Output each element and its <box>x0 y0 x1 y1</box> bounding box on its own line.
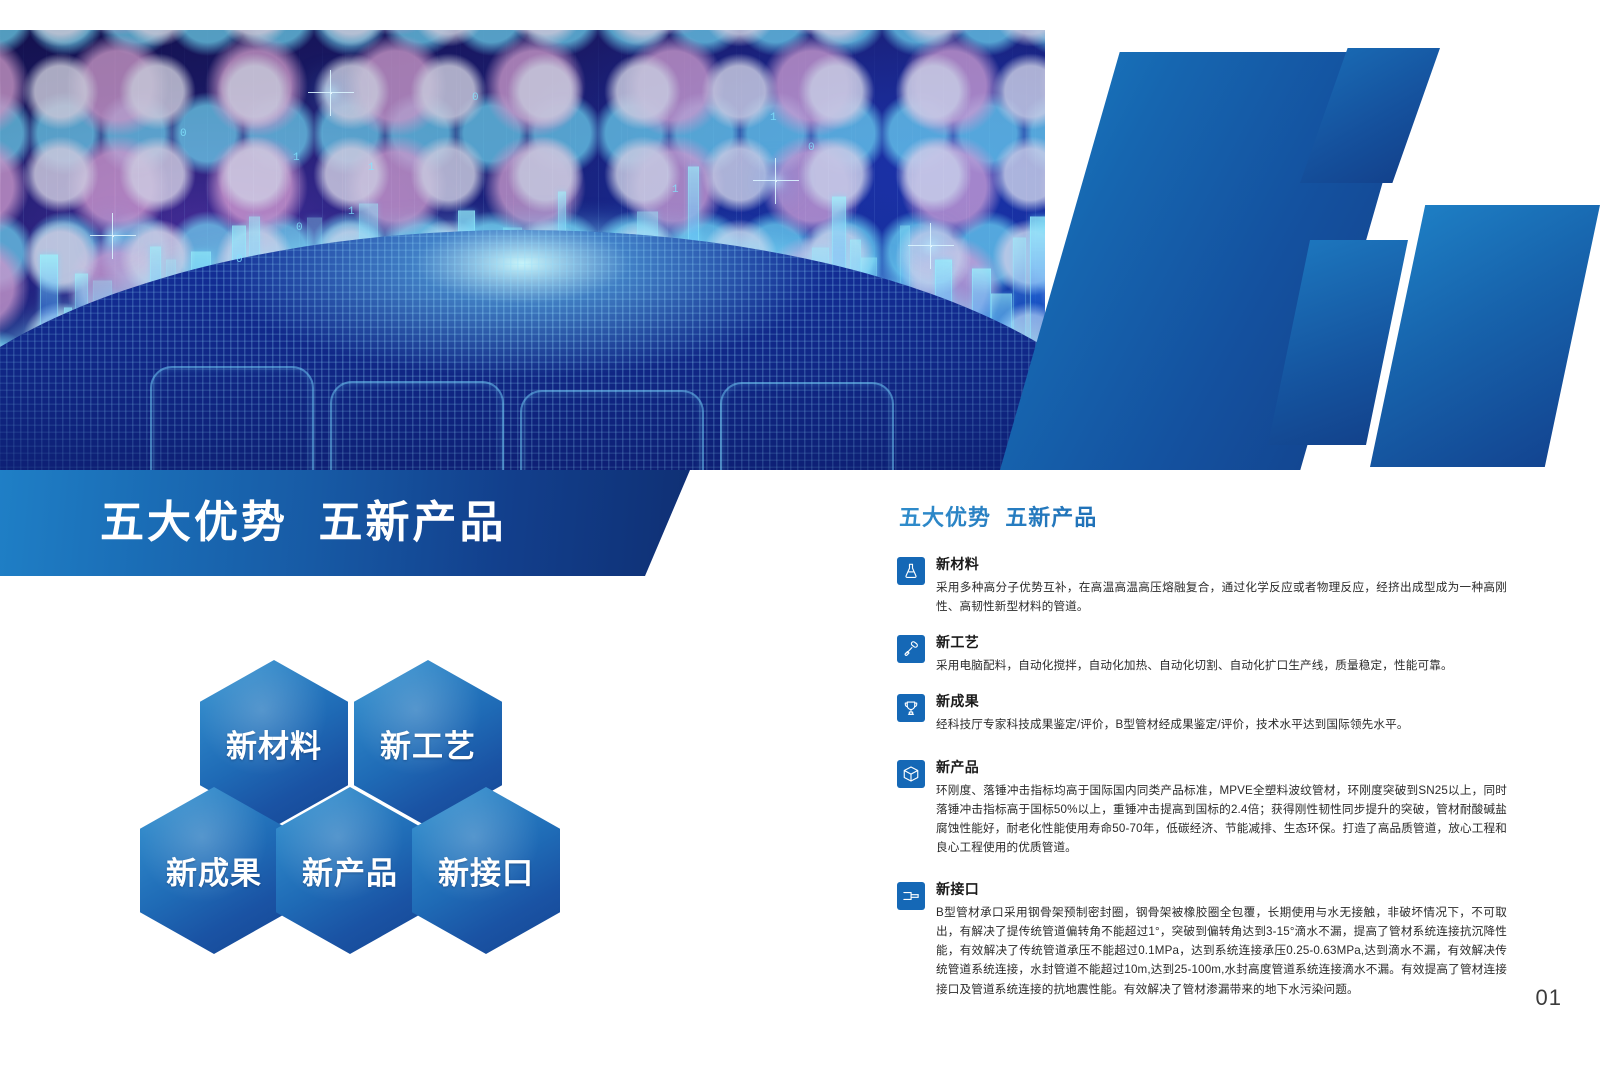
binary-digit: 0 <box>236 254 243 266</box>
feature-item-new-process: 新工艺 采用电脑配料，自动化搅拌，自动化加热、自动化切割、自动化扩口生产线，质量… <box>897 632 1507 675</box>
feature-item-new-product: 新产品 环刚度、落锤冲击指标均高于国际国内同类产品标准，MPVE全塑料波纹管材，… <box>897 757 1507 858</box>
binary-digit: 0 <box>296 222 303 234</box>
hexagon-label: 新接口 <box>438 848 534 893</box>
feature-description: 经科技厅专家科技成果鉴定/评价，B型管材经成果鉴定/评价，技术水平达到国际领先水… <box>936 715 1507 734</box>
pipe-joint-icon <box>897 882 925 910</box>
hero-banner-image: 1 0 0 1 1 0 1 0 1 0 <box>0 30 1045 470</box>
star-flare-icon <box>330 92 332 94</box>
binary-digit: 1 <box>770 112 777 124</box>
cube-icon <box>897 760 925 788</box>
feature-title: 新接口 <box>936 879 1507 899</box>
features-heading: 五大优势 五新产品 <box>899 500 1507 532</box>
feature-title: 新产品 <box>936 757 1507 777</box>
binary-digit: 1 <box>672 184 679 196</box>
feature-description: B型管材承口采用钢骨架预制密封圈，钢骨架被橡胶圈全包覆，长期使用与水无接触，非破… <box>936 903 1507 999</box>
hexagon-label: 新产品 <box>302 848 398 893</box>
feature-description: 采用电脑配料，自动化搅拌，自动化加热、自动化切割、自动化扩口生产线，质量稳定，性… <box>936 656 1507 675</box>
star-flare-icon <box>112 235 114 237</box>
binary-digit: 1 <box>293 152 300 164</box>
hexagon-label: 新工艺 <box>380 721 476 766</box>
hexagon-label: 新成果 <box>166 848 262 893</box>
pipe-loop-icon <box>520 390 704 470</box>
feature-description: 环刚度、落锤冲击指标均高于国际国内同类产品标准，MPVE全塑料波纹管材，环刚度突… <box>936 781 1507 858</box>
pipe-loop-icon <box>150 366 314 470</box>
feature-title: 新工艺 <box>936 632 1507 652</box>
feature-item-new-achievement: 新成果 经科技厅专家科技成果鉴定/评价，B型管材经成果鉴定/评价，技术水平达到国… <box>897 691 1507 734</box>
binary-digit: 0 <box>180 128 187 140</box>
feature-item-new-material: 新材料 采用多种高分子优势互补，在高温高温高压熔融复合，通过化学反应或者物理反应… <box>897 554 1507 616</box>
binary-digit: 1 <box>348 206 355 218</box>
features-column: 五大优势 五新产品 新材料 采用多种高分子优势互补，在高温高温高压熔融复合，通过… <box>897 500 1507 1015</box>
hexagon-cluster: 新材料 新工艺 新成果 新产品 新接口 <box>140 660 540 940</box>
feature-description: 采用多种高分子优势互补，在高温高温高压熔融复合，通过化学反应或者物理反应，经挤出… <box>936 578 1507 616</box>
binary-digit: 1 <box>368 162 375 174</box>
hexagon-label: 新材料 <box>226 721 322 766</box>
pipe-loop-icon <box>720 382 894 470</box>
flask-icon <box>897 557 925 585</box>
binary-digit: 0 <box>808 142 815 154</box>
binary-digit: 0 <box>472 92 479 104</box>
trophy-icon <box>897 694 925 722</box>
feature-title: 新成果 <box>936 691 1507 711</box>
star-flare-icon <box>930 245 932 247</box>
section-banner: 五大优势 五新产品 <box>0 470 700 576</box>
feature-item-new-interface: 新接口 B型管材承口采用钢骨架预制密封圈，钢骨架被橡胶圈全包覆，长期使用与水无接… <box>897 879 1507 999</box>
star-flare-icon <box>775 180 777 182</box>
page-number: 01 <box>1536 985 1562 1011</box>
banner-title: 五大优势 五新产品 <box>100 501 506 545</box>
pipe-loop-icon <box>330 381 504 470</box>
feature-title: 新材料 <box>936 554 1507 574</box>
roller-tool-icon <box>897 635 925 663</box>
